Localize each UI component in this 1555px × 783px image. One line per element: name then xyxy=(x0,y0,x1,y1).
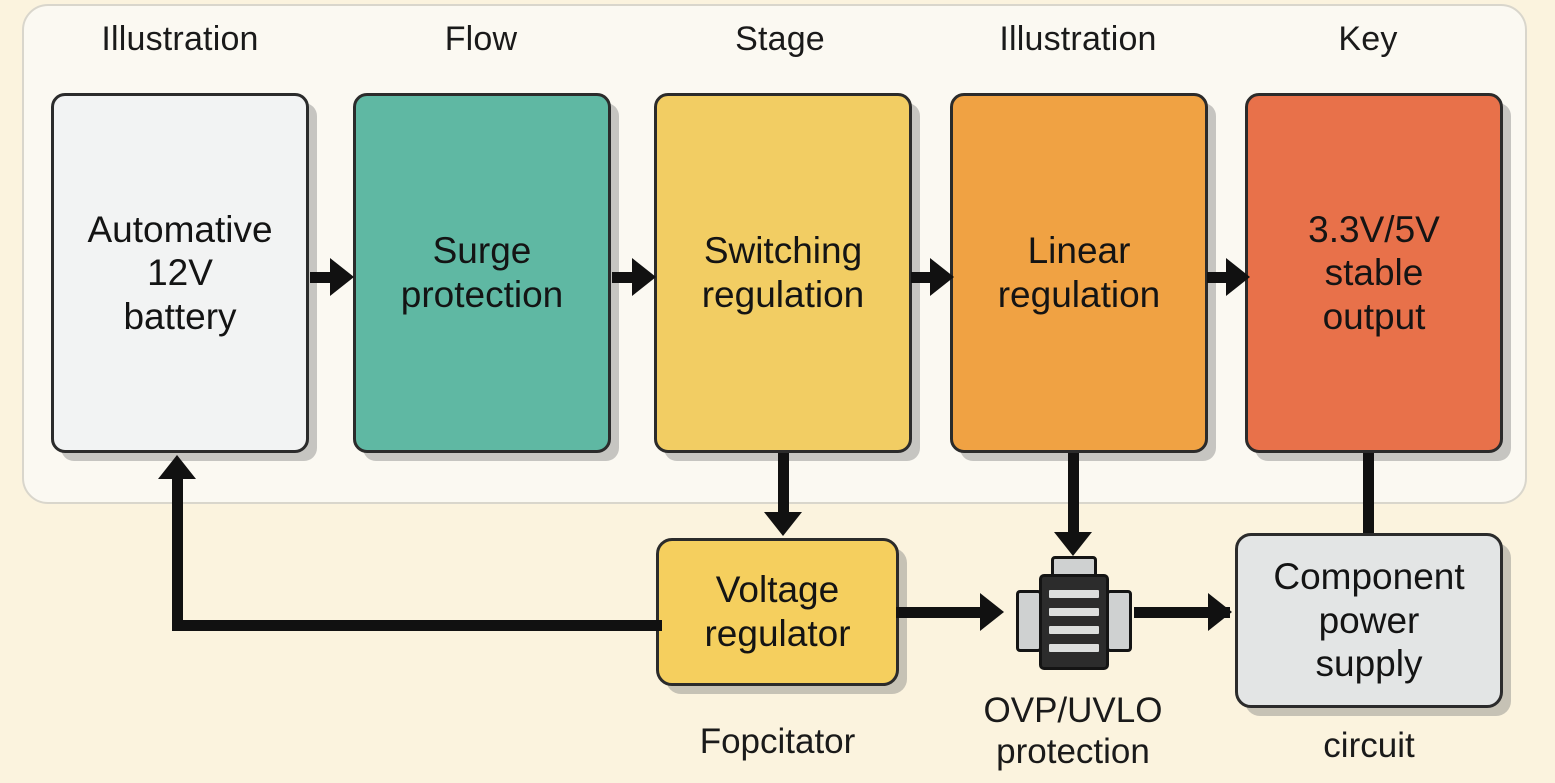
box-switching-regulation-label: Switchingregulation xyxy=(692,229,875,316)
chip-bar-1 xyxy=(1049,590,1099,598)
chip-right-tab xyxy=(1106,590,1132,652)
connector-battery-to-surge-arrow xyxy=(330,258,354,296)
connector-linear-to-output-arrow xyxy=(1226,258,1250,296)
box-component-power-supply-label: Componentpowersupply xyxy=(1263,555,1474,686)
connector-feedback-horizontal xyxy=(172,620,662,631)
column-header-illustration-1: Illustration xyxy=(50,20,310,59)
box-linear-regulation-label: Linearregulation xyxy=(988,229,1171,316)
column-header-flow: Flow xyxy=(351,20,611,59)
connector-linear-to-ovp-arrow xyxy=(1054,532,1092,556)
column-header-illustration-2: Illustration xyxy=(948,20,1208,59)
box-surge-protection-label: Surgeprotection xyxy=(391,229,574,316)
box-stable-output[interactable]: 3.3V/5Vstableoutput xyxy=(1245,93,1503,453)
connector-vr-to-ovp-line xyxy=(896,607,992,618)
box-stable-output-label: 3.3V/5Vstableoutput xyxy=(1298,208,1450,339)
caption-circuit: circuit xyxy=(1235,726,1503,766)
chip-bar-2 xyxy=(1049,608,1099,616)
connector-switching-to-linear-arrow xyxy=(930,258,954,296)
box-automotive-battery-label: Automative12Vbattery xyxy=(77,208,282,339)
box-switching-regulation[interactable]: Switchingregulation xyxy=(654,93,912,453)
column-header-key: Key xyxy=(1238,20,1498,59)
diagram-canvas: Illustration Flow Stage Illustration Key… xyxy=(0,0,1555,783)
column-header-stage: Stage xyxy=(650,20,910,59)
chip-body xyxy=(1039,574,1109,670)
component-chip-icon xyxy=(1008,556,1139,670)
box-component-power-supply[interactable]: Componentpowersupply xyxy=(1235,533,1503,708)
connector-linear-to-ovp-line xyxy=(1068,453,1079,541)
connector-surge-to-switching-arrow xyxy=(632,258,656,296)
connector-switching-to-vr-arrow xyxy=(764,512,802,536)
box-automotive-battery[interactable]: Automative12Vbattery xyxy=(51,93,309,453)
connector-feedback-vertical xyxy=(172,479,183,627)
box-linear-regulation[interactable]: Linearregulation xyxy=(950,93,1208,453)
connector-output-to-component-line xyxy=(1363,453,1374,535)
box-voltage-regulator[interactable]: Voltageregulator xyxy=(656,538,899,686)
box-voltage-regulator-label: Voltageregulator xyxy=(694,568,860,655)
connector-vr-to-ovp-arrow xyxy=(980,593,1004,631)
box-surge-protection[interactable]: Surgeprotection xyxy=(353,93,611,453)
chip-bar-3 xyxy=(1049,626,1099,634)
connector-feedback-arrow xyxy=(158,455,196,479)
chip-bar-4 xyxy=(1049,644,1099,652)
caption-fopcitator: Fopcitator xyxy=(656,722,899,762)
caption-ovp-uvlo: OVP/UVLOprotection xyxy=(948,690,1198,773)
connector-switching-to-vr-line xyxy=(778,453,789,521)
connector-ovp-to-component-arrow xyxy=(1208,593,1232,631)
